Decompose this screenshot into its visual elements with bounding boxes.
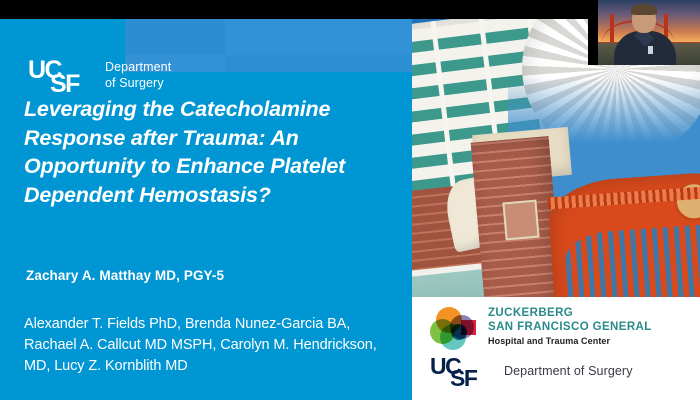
badge — [648, 46, 653, 54]
zsfg-logo: ZUCKERBERG SAN FRANCISCO GENERAL Hospita… — [428, 306, 652, 350]
webcam-letterbox-left — [588, 0, 598, 65]
screen-share-stage: UC SF Department of Surgery Leveraging t… — [0, 0, 700, 415]
ucsf-panel-mark-bottom: SF — [450, 367, 476, 390]
ucsf-wordmark-navy-icon: UC SF — [430, 355, 492, 387]
presenter-webcam[interactable] — [588, 0, 700, 65]
zsfg-square-red — [461, 320, 476, 335]
presentation-slide[interactable]: UC SF Department of Surgery Leveraging t… — [0, 19, 700, 411]
zsfg-wordmark: ZUCKERBERG SAN FRANCISCO GENERAL Hospita… — [488, 306, 652, 346]
slide-title: Leveraging the Catecholamine Response af… — [24, 95, 404, 209]
institution-logo-panel: ZUCKERBERG SAN FRANCISCO GENERAL Hospita… — [412, 297, 700, 400]
ucsf-mark-bottom: SF — [50, 72, 79, 97]
ucsf-panel-logo: UC SF Department of Surgery — [430, 355, 633, 387]
zsfg-line1: ZUCKERBERG — [488, 306, 652, 320]
slide-bottom-strip — [0, 400, 700, 415]
presenter-name: Zachary A. Matthay MD, PGY-5 — [26, 268, 224, 283]
stone-plaque — [502, 200, 539, 241]
ucsf-dept-line2: of Surgery — [105, 76, 171, 92]
ucsf-wordmark-icon: UC SF — [28, 58, 96, 94]
ucsf-department-label: Department of Surgery — [105, 60, 171, 91]
ucsf-dept-line1: Department — [105, 60, 171, 76]
header-accent-block-c — [225, 55, 412, 72]
presenter-hair — [631, 4, 657, 15]
header-accent-block-b — [125, 19, 225, 55]
ucsf-panel-department-label: Department of Surgery — [504, 364, 633, 378]
zsfg-circles-icon — [428, 306, 478, 350]
ucsf-header-logo: UC SF Department of Surgery — [28, 58, 171, 94]
zsfg-line3: Hospital and Trauma Center — [488, 336, 652, 346]
zsfg-line2: SAN FRANCISCO GENERAL — [488, 320, 652, 334]
coauthor-list: Alexander T. Fields PhD, Brenda Nunez-Ga… — [24, 314, 399, 377]
